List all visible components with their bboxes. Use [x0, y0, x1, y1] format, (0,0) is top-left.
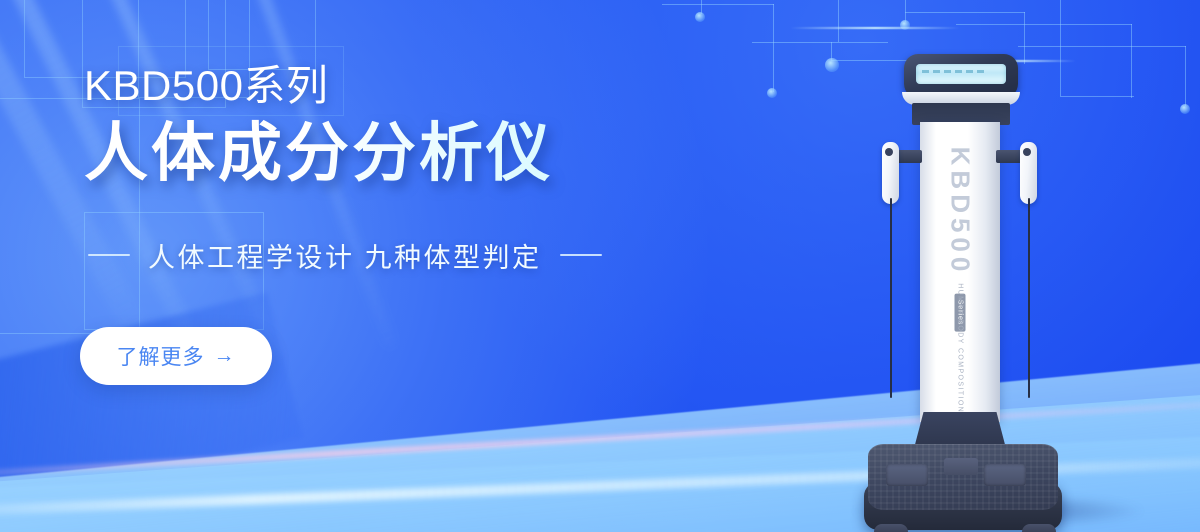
divider-dash-left	[88, 254, 130, 256]
circuit-trace	[773, 4, 774, 92]
circuit-trace	[662, 4, 774, 5]
circuit-trace	[752, 42, 888, 43]
circuit-trace	[1185, 46, 1186, 106]
circuit-trace	[956, 24, 1132, 25]
glow-accent-line	[790, 27, 960, 29]
handle-cable-left	[890, 198, 892, 398]
device-leveling-foot-right	[1022, 524, 1056, 532]
product-series-label: KBD500系列	[84, 62, 602, 110]
circuit-trace	[831, 42, 832, 60]
product-hero-banner: KBD500系列 人体成分分析仪 人体工程学设计 九种体型判定 了解更多 → K…	[0, 0, 1200, 532]
circuit-node	[767, 88, 777, 98]
handle-cable-right	[1028, 198, 1030, 398]
device-leveling-foot-left	[874, 524, 908, 532]
device-screen	[916, 64, 1006, 84]
foot-electrode-left	[886, 464, 928, 486]
foot-electrode-right	[984, 464, 1026, 486]
circuit-node	[900, 20, 910, 30]
hero-subtitle: 人体工程学设计 九种体型判定	[148, 236, 542, 275]
circuit-node	[695, 12, 705, 22]
device-column: KBD500 Series HUMAN BODY COMPOSITION ANA…	[920, 122, 1000, 422]
hand-electrode-left	[882, 142, 899, 204]
wireframe-rect	[208, 0, 316, 70]
divider-dash-right	[560, 254, 602, 256]
hand-electrode-right	[1020, 142, 1037, 204]
circuit-trace	[701, 0, 702, 14]
circuit-trace	[905, 0, 906, 22]
hero-text-block: KBD500系列 人体成分分析仪 人体工程学设计 九种体型判定 了解更多 →	[84, 62, 602, 385]
subtitle-row: 人体工程学设计 九种体型判定	[84, 236, 602, 275]
body-composition-analyzer-image: KBD500 Series HUMAN BODY COMPOSITION ANA…	[836, 46, 1156, 532]
circuit-node	[1180, 104, 1190, 114]
learn-more-button[interactable]: 了解更多 →	[80, 327, 272, 385]
circuit-trace	[905, 12, 1025, 13]
arrow-right-icon: →	[214, 344, 236, 368]
device-brand-text: KBD500	[945, 147, 976, 277]
learn-more-label: 了解更多	[117, 341, 205, 371]
foot-electrode-center	[944, 458, 978, 475]
page-title: 人体成分分析仪	[84, 116, 602, 192]
circuit-trace	[838, 0, 839, 42]
